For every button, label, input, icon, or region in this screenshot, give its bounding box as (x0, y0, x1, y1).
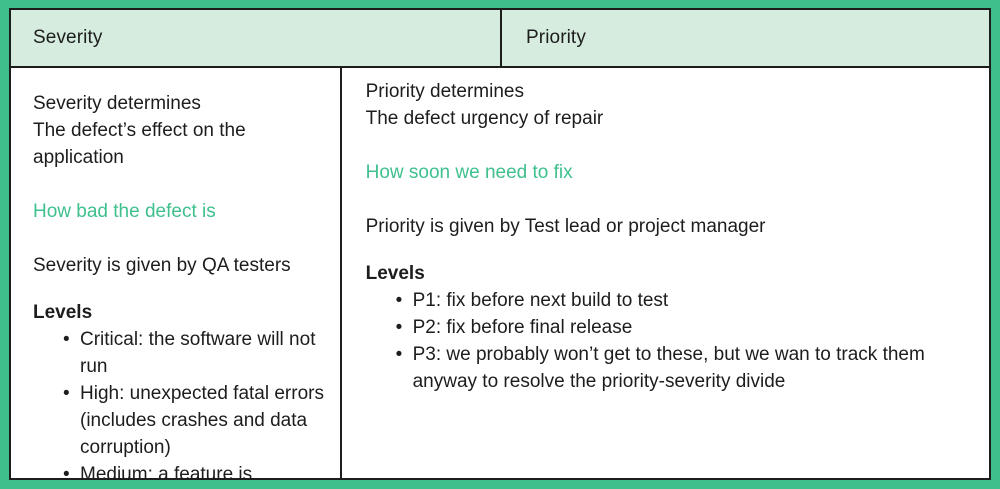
severity-accent-line: How bad the defect is (33, 198, 326, 225)
priority-assigned-by: Priority is given by Test lead or projec… (366, 213, 971, 240)
list-item: P1: fix before next build to test (396, 287, 971, 314)
list-item: High: unexpected fatal errors (includes … (63, 380, 326, 461)
list-item: Critical: the software will not run (63, 326, 326, 380)
severity-spacer-2 (33, 225, 326, 252)
table-body-row: Severity determines The defect’s effect … (11, 68, 989, 478)
priority-spacer-3 (366, 240, 971, 260)
severity-priority-comparison-table: Severity Priority Severity determines Th… (9, 8, 991, 480)
priority-spacer-2 (366, 186, 971, 213)
priority-levels-heading: Levels (366, 260, 971, 287)
priority-accent-line: How soon we need to fix (366, 159, 971, 186)
severity-spacer-3 (33, 279, 326, 299)
priority-spacer-1 (366, 132, 971, 159)
page-frame: Severity Priority Severity determines Th… (0, 0, 1000, 489)
priority-cell: Priority determines The defect urgency o… (342, 68, 989, 478)
severity-spacer-1 (33, 171, 326, 198)
severity-cell: Severity determines The defect’s effect … (11, 68, 342, 478)
list-item: P2: fix before final release (396, 314, 971, 341)
priority-intro-line-1: Priority determines (366, 78, 971, 105)
list-item: Medium: a feature is malfunctioning (63, 461, 326, 478)
severity-levels-heading: Levels (33, 299, 326, 326)
list-item: P3: we probably won’t get to these, but … (396, 341, 971, 395)
severity-assigned-by: Severity is given by QA testers (33, 252, 326, 279)
column-header-priority: Priority (502, 10, 989, 66)
severity-levels-list: Critical: the software will not run High… (33, 326, 326, 478)
priority-intro-line-2: The defect urgency of repair (366, 105, 971, 132)
column-header-severity: Severity (11, 10, 502, 66)
priority-levels-list: P1: fix before next build to test P2: fi… (366, 287, 971, 395)
column-header-severity-label: Severity (33, 27, 102, 49)
severity-intro-line-1: Severity determines (33, 90, 326, 117)
table-header-row: Severity Priority (11, 10, 989, 68)
column-header-priority-label: Priority (526, 27, 586, 49)
severity-intro-line-2: The defect’s effect on the application (33, 117, 326, 171)
